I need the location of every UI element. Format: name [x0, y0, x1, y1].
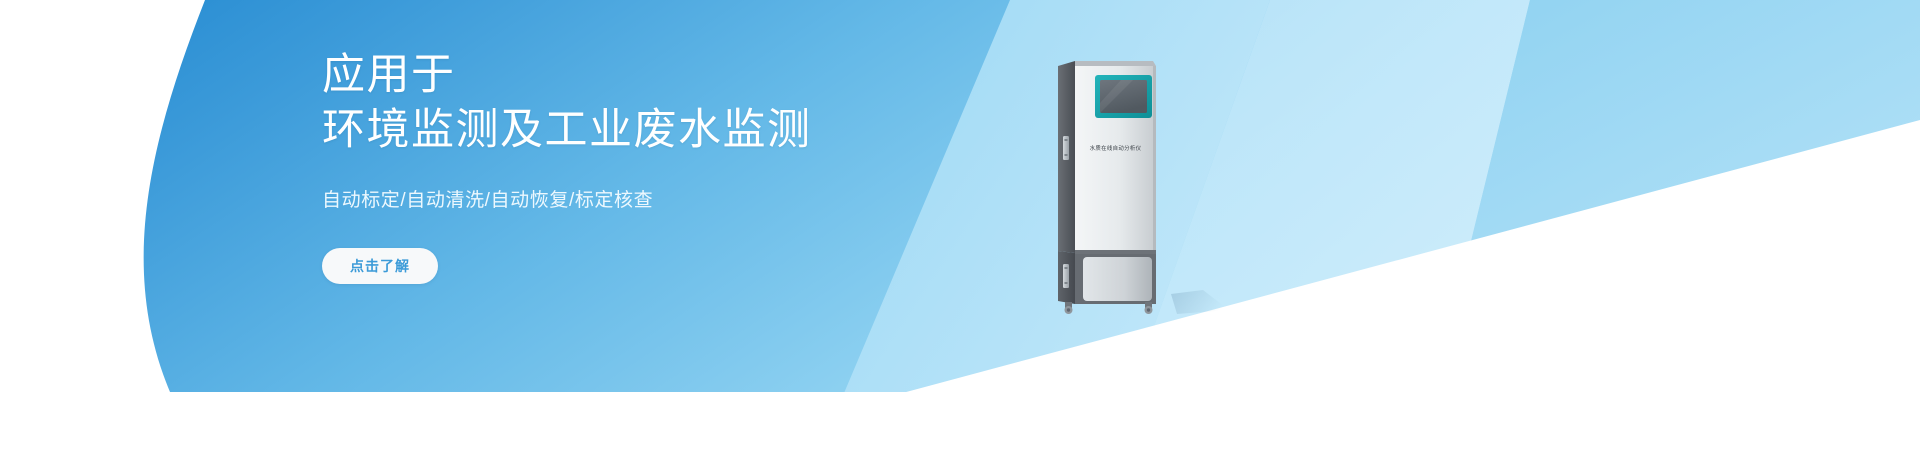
banner-copy: 应用于 环境监测及工业废水监测 自动标定/自动清洗/自动恢复/标定核查 点击了解 — [322, 48, 1082, 284]
background-white-strip — [0, 392, 1920, 450]
banner-headline: 应用于 环境监测及工业废水监测 — [322, 48, 1082, 158]
caster-right — [1145, 302, 1153, 314]
lower-cabinet-door — [1083, 257, 1152, 301]
headline-line-2: 环境监测及工业废水监测 — [322, 103, 1082, 158]
hero-banner: 应用于 环境监测及工业废水监测 自动标定/自动清洗/自动恢复/标定核查 点击了解 — [0, 0, 1920, 450]
learn-more-button[interactable]: 点击了解 — [322, 248, 438, 284]
caster-left — [1065, 302, 1073, 314]
cabinet-top-face — [1075, 61, 1156, 66]
banner-subtitle: 自动标定/自动清洗/自动恢复/标定核查 — [322, 188, 1082, 214]
cabinet-front-right-edge — [1153, 66, 1156, 253]
cabinet-seam — [1075, 250, 1156, 254]
product-panel-label: 水质在线自动分析仪 — [1090, 144, 1142, 152]
headline-line-1: 应用于 — [322, 48, 1082, 103]
